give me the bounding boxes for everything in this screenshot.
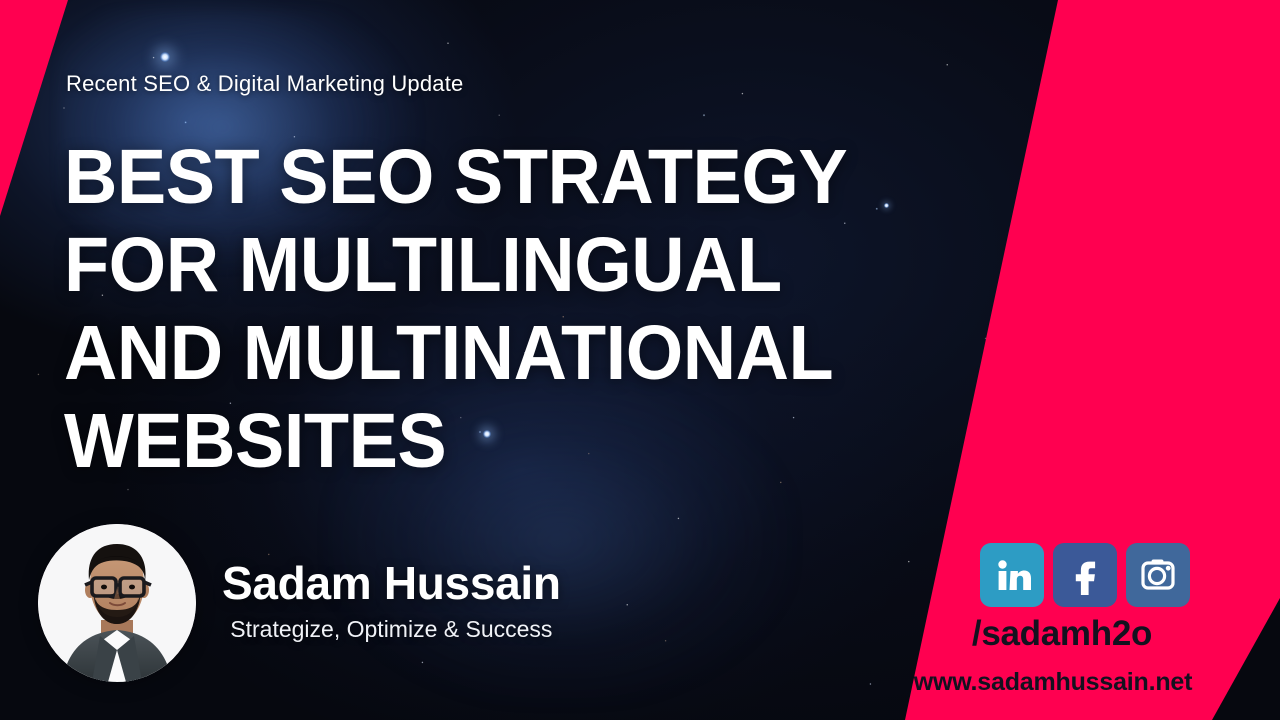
facebook-icon[interactable] bbox=[1053, 543, 1117, 607]
social-handle: /sadamh2o bbox=[912, 614, 1212, 654]
headline-line-1: BEST SEO STRATEGY bbox=[64, 133, 909, 221]
headline-line-4: WEBSITES bbox=[64, 397, 909, 485]
social-icons-row bbox=[980, 543, 1190, 607]
headline-line-3: AND MULTINATIONAL bbox=[64, 309, 909, 397]
author-tagline: Strategize, Optimize & Success bbox=[222, 616, 561, 643]
avatar bbox=[38, 524, 196, 682]
author-block: Sadam Hussain Strategize, Optimize & Suc… bbox=[38, 524, 561, 682]
headline-line-2: FOR MULTILINGUAL bbox=[64, 221, 909, 309]
author-name: Sadam Hussain bbox=[222, 559, 561, 607]
instagram-icon[interactable] bbox=[1126, 543, 1190, 607]
author-text: Sadam Hussain Strategize, Optimize & Suc… bbox=[222, 559, 561, 647]
thumbnail-canvas: Recent SEO & Digital Marketing Update BE… bbox=[0, 0, 1280, 720]
website-url: www.sadamhussain.net bbox=[888, 668, 1218, 697]
page-title: BEST SEO STRATEGY FOR MULTILINGUAL AND M… bbox=[64, 133, 944, 485]
kicker-text: Recent SEO & Digital Marketing Update bbox=[66, 71, 463, 97]
social-handle-text: /sadamh2o bbox=[972, 614, 1152, 653]
website-url-text: www.sadamhussain.net bbox=[914, 668, 1192, 696]
linkedin-icon[interactable] bbox=[980, 543, 1044, 607]
bright-star-icon bbox=[160, 52, 170, 62]
